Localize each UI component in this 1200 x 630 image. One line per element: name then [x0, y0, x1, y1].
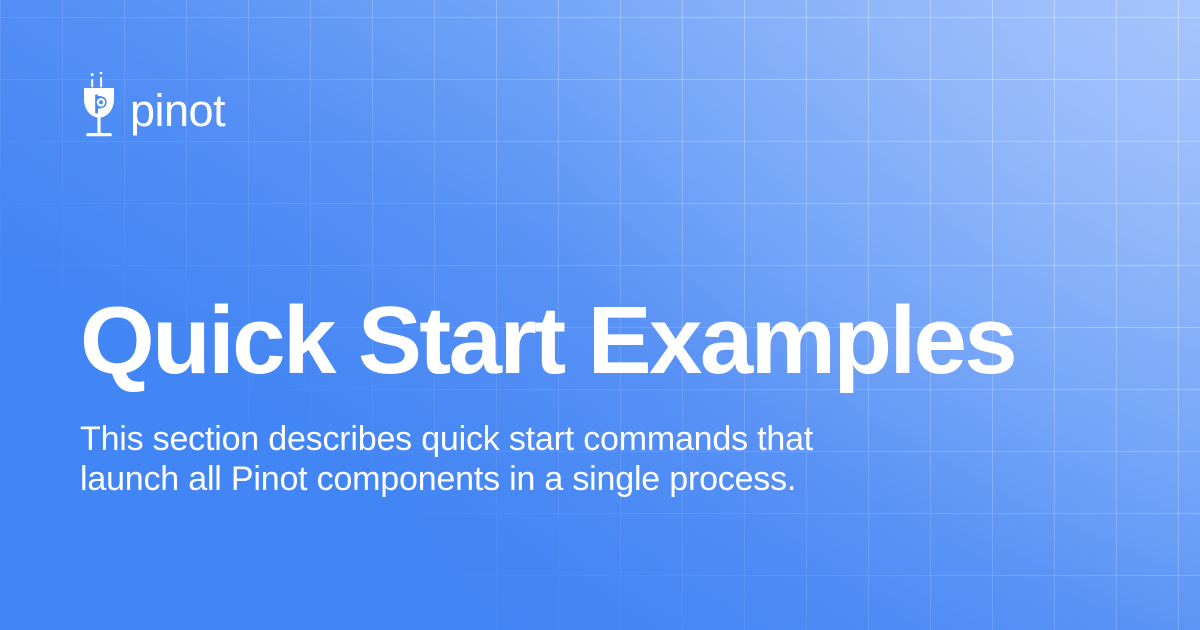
pinot-wine-glass-icon	[80, 72, 118, 142]
brand-wordmark: pinot	[130, 88, 225, 133]
card-content: pinot Quick Start Examples This section …	[0, 0, 1200, 630]
page-title: Quick Start Examples	[80, 293, 1080, 389]
brand-lockup: pinot	[80, 72, 225, 142]
og-banner-card: pinot Quick Start Examples This section …	[0, 0, 1200, 630]
page-subtitle: This section describes quick start comma…	[80, 419, 820, 499]
hero-text-block: Quick Start Examples This section descri…	[80, 293, 1080, 499]
